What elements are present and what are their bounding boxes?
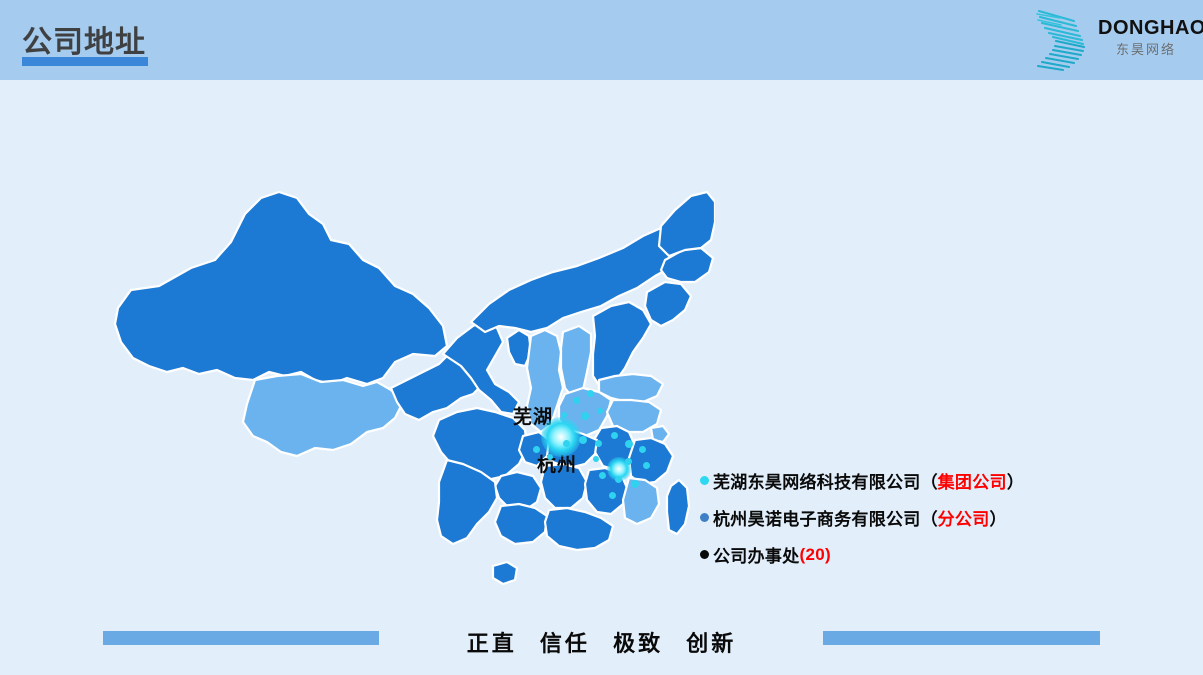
map-office-dot[interactable] <box>597 408 603 414</box>
footer-slogan: 正直 信任 极致 创新 <box>0 626 1203 658</box>
map-office-dot[interactable] <box>599 472 606 479</box>
title-underline-accent <box>22 57 148 66</box>
map-office-dot[interactable] <box>561 412 567 418</box>
legend-company-name: 公司办事处 <box>713 542 800 567</box>
legend-item-offices: 公司办事处 (20) <box>700 536 1120 573</box>
province-zhejiang <box>629 438 673 484</box>
province-liaoning <box>645 282 691 326</box>
legend-company-name: 杭州昊诺电子商务有限公司 <box>713 505 921 530</box>
feather-fan-icon <box>1034 7 1096 73</box>
map-office-dot[interactable] <box>587 390 594 397</box>
province-xinjiang <box>115 192 447 384</box>
map-office-dot[interactable] <box>625 458 632 465</box>
legend-bullet-icon <box>700 513 709 522</box>
legend-close-paren: ） <box>990 505 1007 530</box>
map-office-dot[interactable] <box>615 476 622 483</box>
province-fujian <box>623 478 659 524</box>
legend-bullet-icon <box>700 550 709 559</box>
map-office-dot[interactable] <box>625 440 633 448</box>
china-map: 芜湖 杭州 <box>95 140 715 610</box>
map-office-dot[interactable] <box>643 462 650 469</box>
legend-bullet-icon <box>700 476 709 485</box>
map-office-dot[interactable] <box>631 480 639 488</box>
province-taiwan <box>667 480 689 534</box>
slogan-word-1: 正直 <box>467 631 517 656</box>
map-office-dot[interactable] <box>547 454 553 460</box>
legend: 芜湖东昊网络科技有限公司 （ 集团公司 ） 杭州昊诺电子商务有限公司 （ 分公司… <box>700 462 1120 573</box>
province-shanxi <box>561 326 591 398</box>
slogan-word-4: 创新 <box>686 631 736 656</box>
map-office-dot[interactable] <box>579 436 587 444</box>
legend-item-group-company: 芜湖东昊网络科技有限公司 （ 集团公司 ） <box>700 462 1120 499</box>
legend-open-paren: （ <box>921 468 938 493</box>
map-office-dot[interactable] <box>611 432 618 439</box>
page-title: 公司地址 <box>22 17 146 61</box>
slide-header: 公司地址 <box>0 0 1203 80</box>
map-office-dot[interactable] <box>609 492 616 499</box>
map-office-dot[interactable] <box>533 446 540 453</box>
map-marker-wuhu[interactable] <box>541 417 581 457</box>
slogan-word-3: 极致 <box>613 631 663 656</box>
province-tibet <box>243 374 403 456</box>
map-office-dot[interactable] <box>581 412 589 420</box>
province-guangxi <box>495 504 547 544</box>
legend-company-tag: 集团公司 <box>938 468 1007 493</box>
legend-company-tag: 分公司 <box>938 505 990 530</box>
legend-close-paren: ） <box>1007 468 1024 493</box>
china-map-svg <box>95 140 715 610</box>
legend-item-branch-company: 杭州昊诺电子商务有限公司 （ 分公司 ） <box>700 499 1120 536</box>
map-office-dot[interactable] <box>563 440 570 447</box>
logo-wordmark: DONGHAO 东昊网络 <box>1098 17 1194 59</box>
legend-open-paren: （ <box>921 505 938 530</box>
legend-company-tag: (20) <box>800 545 831 565</box>
map-office-dot[interactable] <box>595 440 602 447</box>
legend-company-name: 芜湖东昊网络科技有限公司 <box>713 468 921 493</box>
map-office-dot[interactable] <box>573 397 580 404</box>
province-hainan <box>493 562 517 584</box>
logo-chinese-name: 东昊网络 <box>1098 41 1194 59</box>
province-guangdong <box>545 508 613 550</box>
map-office-dot[interactable] <box>639 446 646 453</box>
slogan-word-2: 信任 <box>540 631 590 656</box>
logo-english-name: DONGHAO <box>1098 17 1194 39</box>
company-logo: DONGHAO 东昊网络 <box>1032 7 1195 73</box>
province-heilongjiang <box>659 192 715 256</box>
map-office-dot[interactable] <box>593 456 599 462</box>
